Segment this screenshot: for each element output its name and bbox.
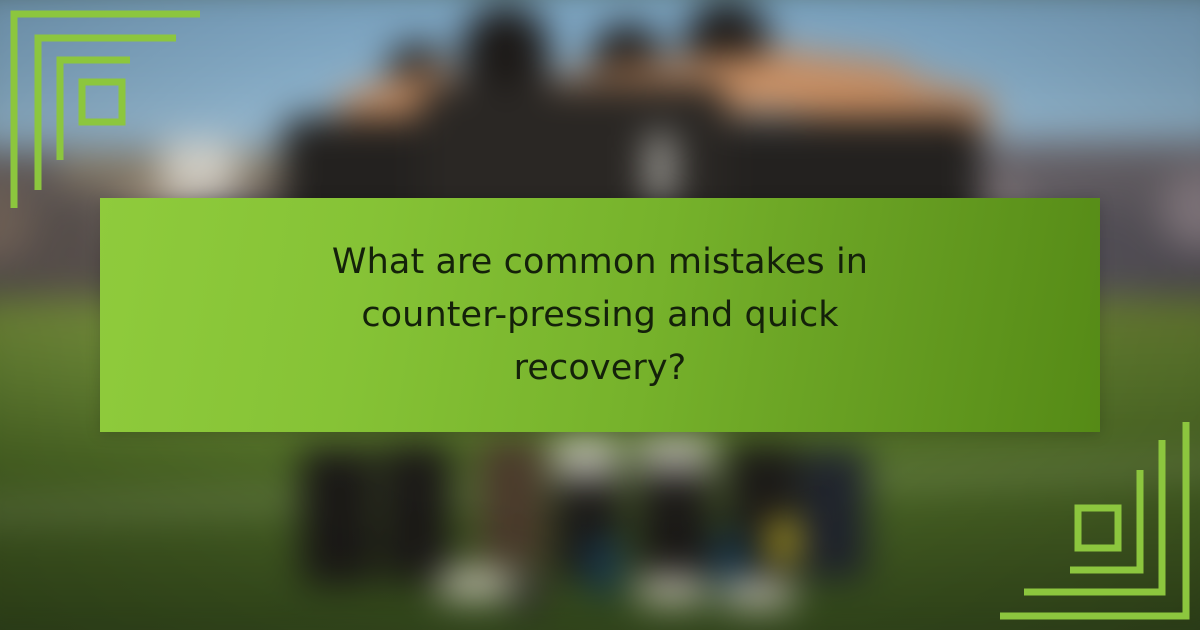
question-title: What are common mistakes in counter-pres…	[260, 236, 940, 395]
question-banner: What are common mistakes in counter-pres…	[100, 198, 1100, 432]
